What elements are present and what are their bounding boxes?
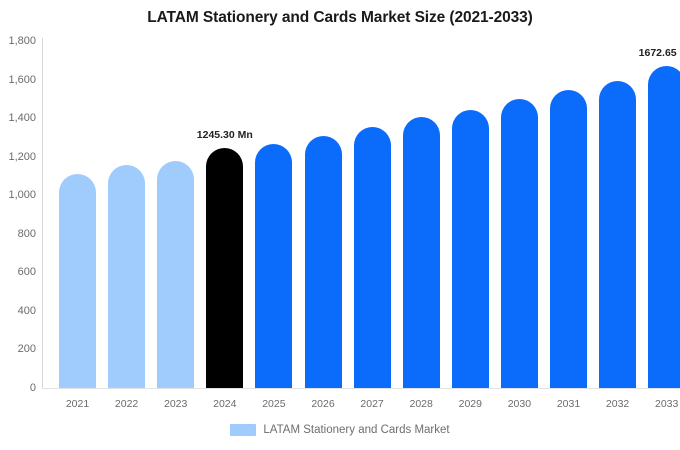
y-axis-tick-label: 1,600 — [0, 74, 36, 86]
bar-2025[interactable] — [255, 144, 292, 388]
bar-column[interactable] — [157, 41, 194, 388]
bar-2029[interactable] — [452, 110, 489, 388]
bar-column[interactable] — [354, 41, 391, 388]
x-axis-tick-label: 2026 — [305, 398, 342, 410]
bar-2032[interactable] — [599, 81, 636, 388]
bar-column[interactable] — [550, 41, 587, 388]
x-axis-tick-label: 2022 — [108, 398, 145, 410]
bar-2026[interactable] — [305, 136, 342, 388]
bar-2021[interactable] — [59, 174, 96, 388]
plot-area: 1245.30 Mn1672.65 Mn — [42, 41, 680, 388]
bar-column[interactable] — [305, 41, 342, 388]
y-axis-tick-label: 200 — [0, 343, 36, 355]
bar-value-label-2024: 1245.30 Mn — [197, 129, 253, 141]
y-axis-tick-label: 1,800 — [0, 35, 36, 47]
bar-column[interactable] — [206, 41, 243, 388]
x-axis: 2021202220232024202520262027202820292030… — [42, 398, 680, 416]
y-axis-tick-label: 1,400 — [0, 112, 36, 124]
bar-2030[interactable] — [501, 99, 538, 388]
y-axis-tick-label: 1,200 — [0, 151, 36, 163]
bar-column[interactable] — [108, 41, 145, 388]
bar-2024[interactable] — [206, 148, 243, 388]
x-axis-tick-label: 2025 — [255, 398, 292, 410]
bar-chart: LATAM Stationery and Cards Market Size (… — [0, 0, 680, 450]
bar-2033[interactable] — [648, 66, 680, 388]
bar-column[interactable] — [501, 41, 538, 388]
y-axis-tick-label: 400 — [0, 305, 36, 317]
x-axis-tick-label: 2028 — [403, 398, 440, 410]
chart-title: LATAM Stationery and Cards Market Size (… — [0, 9, 680, 27]
bar-2031[interactable] — [550, 90, 587, 388]
bar-column[interactable] — [452, 41, 489, 388]
x-axis-tick-label: 2032 — [599, 398, 636, 410]
chart-legend[interactable]: LATAM Stationery and Cards Market — [0, 424, 680, 436]
bar-column[interactable] — [599, 41, 636, 388]
x-axis-tick-label: 2029 — [452, 398, 489, 410]
legend-swatch-icon — [230, 424, 256, 436]
bar-column[interactable] — [255, 41, 292, 388]
x-axis-tick-label: 2024 — [206, 398, 243, 410]
bar-2028[interactable] — [403, 117, 440, 388]
y-axis-tick-label: 800 — [0, 228, 36, 240]
y-axis-tick-label: 600 — [0, 266, 36, 278]
bar-column[interactable] — [648, 41, 680, 388]
x-axis-tick-label: 2023 — [157, 398, 194, 410]
bar-2022[interactable] — [108, 165, 145, 388]
bar-column[interactable] — [403, 41, 440, 388]
y-axis-tick-label: 0 — [0, 382, 36, 394]
bar-2023[interactable] — [157, 161, 194, 388]
y-axis: 1,8001,6001,4001,2001,0008006004002000 — [0, 41, 36, 388]
bar-column[interactable] — [59, 41, 96, 388]
y-axis-tick-label: 1,000 — [0, 189, 36, 201]
legend-label: LATAM Stationery and Cards Market — [263, 424, 449, 436]
x-axis-tick-label: 2031 — [550, 398, 587, 410]
x-axis-tick-label: 2021 — [59, 398, 96, 410]
bar-value-label-2033: 1672.65 Mn — [639, 47, 680, 59]
x-axis-line — [42, 388, 680, 389]
x-axis-tick-label: 2030 — [501, 398, 538, 410]
bar-2027[interactable] — [354, 127, 391, 388]
x-axis-tick-label: 2033 — [648, 398, 680, 410]
x-axis-tick-label: 2027 — [354, 398, 391, 410]
